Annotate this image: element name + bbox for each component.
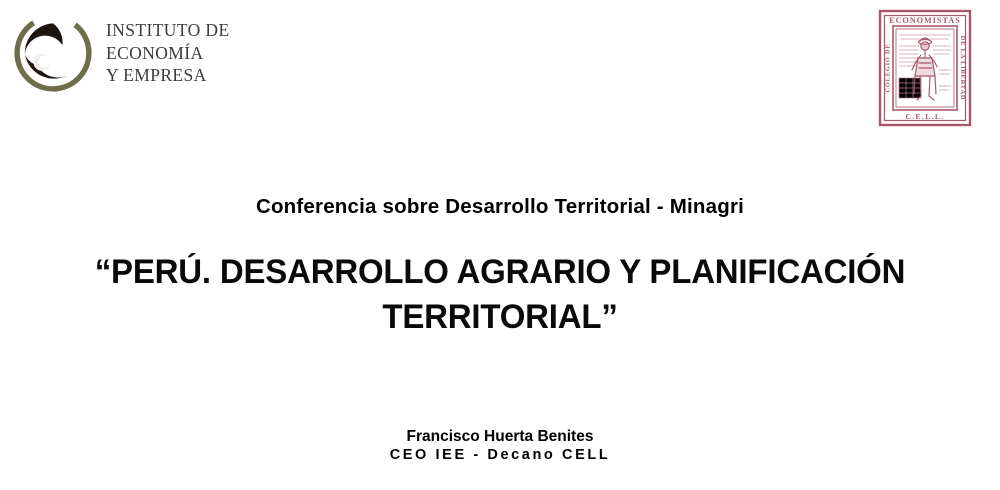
- cell-top-text: ECONOMISTAS: [889, 16, 961, 25]
- cell-right-text: DE LA LIBERTAD: [959, 36, 966, 100]
- title-line-1: “PERÚ. DESARROLLO AGRARIO Y PLANIFICACIÓ…: [54, 250, 946, 295]
- iee-logo-line-3: Y EMPRESA: [106, 64, 230, 86]
- cell-emblem-logo: ECONOMISTAS C.E.L.L. COLEGIO DE DE LA LI…: [877, 8, 973, 128]
- conference-subtitle: Conferencia sobre Desarrollo Territorial…: [0, 195, 1000, 219]
- presenter-block: Francisco Huerta Benites CEO IEE - Decan…: [0, 427, 1000, 465]
- iee-logo-line-2: ECONOMÍA: [106, 42, 230, 64]
- cell-left-text: COLEGIO DE: [885, 43, 892, 92]
- iee-logo-line-1: INSTITUTO DE: [106, 19, 230, 41]
- iee-logo-text: INSTITUTO DE ECONOMÍA Y EMPRESA: [106, 19, 230, 86]
- cell-bottom-text: C.E.L.L.: [905, 112, 944, 121]
- presenter-role: CEO IEE - Decano CELL: [0, 446, 1000, 465]
- page-title: “PERÚ. DESARROLLO AGRARIO Y PLANIFICACIÓ…: [54, 250, 946, 340]
- title-line-2: TERRITORIAL”: [54, 295, 946, 340]
- presenter-name: Francisco Huerta Benites: [0, 427, 1000, 446]
- iee-circular-mark-icon: [14, 14, 92, 92]
- iee-logo: INSTITUTO DE ECONOMÍA Y EMPRESA: [14, 14, 230, 92]
